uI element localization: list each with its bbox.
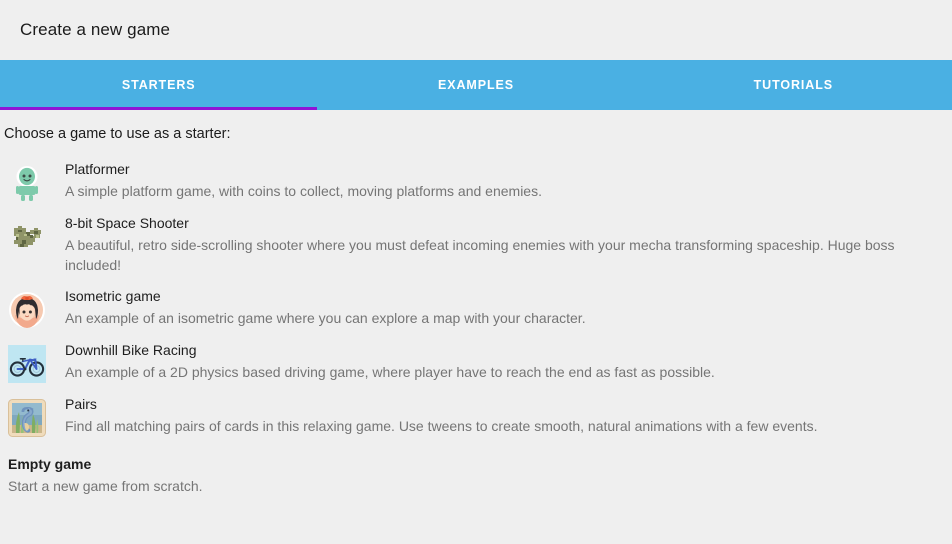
dialog-header: Create a new game [0,0,952,60]
list-item-description: A beautiful, retro side-scrolling shoote… [65,235,944,275]
seahorse-card-icon [8,399,46,437]
starters-panel: Choose a game to use as a starter: [0,110,952,496]
list-item-description: Find all matching pairs of cards in this… [65,416,944,436]
list-item-title: 8-bit Space Shooter [65,214,944,233]
bicycle-icon [8,345,46,383]
list-item-title: Downhill Bike Racing [65,341,944,360]
list-item-text: Downhill Bike Racing An example of a 2D … [65,341,944,382]
list-item[interactable]: Downhill Bike Racing An example of a 2D … [0,341,952,395]
tab-examples[interactable]: EXAMPLES [317,60,634,110]
tab-tutorials[interactable]: TUTORIALS [635,60,952,110]
starter-list: Platformer A simple platform game, with … [0,160,952,449]
list-item[interactable]: Pairs Find all matching pairs of cards i… [0,395,952,449]
platformer-alien-icon [8,164,46,202]
list-item-description: A simple platform game, with coins to co… [65,181,944,201]
list-item-description: An example of an isometric game where yo… [65,308,944,328]
list-item[interactable]: 8-bit Space Shooter A beautiful, retro s… [0,214,952,287]
list-item-text: Isometric game An example of an isometri… [65,287,944,328]
active-tab-indicator [0,107,317,110]
list-item[interactable]: Isometric game An example of an isometri… [0,287,952,341]
list-item-text: 8-bit Space Shooter A beautiful, retro s… [65,214,944,275]
list-item-text: Platformer A simple platform game, with … [65,160,944,201]
list-item-title: Platformer [65,160,944,179]
list-item-title: Pairs [65,395,944,414]
empty-game-item[interactable]: Empty game Start a new game from scratch… [0,449,952,496]
choose-game-label: Choose a game to use as a starter: [0,110,952,144]
empty-game-title: Empty game [8,455,944,474]
isometric-avatar-icon [8,291,46,329]
space-shooter-ship-icon [8,218,46,256]
list-item[interactable]: Platformer A simple platform game, with … [0,160,952,214]
tab-starters[interactable]: STARTERS [0,60,317,110]
list-item-description: An example of a 2D physics based driving… [65,362,944,382]
page-title: Create a new game [20,20,170,40]
tab-bar: STARTERS EXAMPLES TUTORIALS [0,60,952,110]
empty-game-description: Start a new game from scratch. [8,476,944,496]
list-item-title: Isometric game [65,287,944,306]
list-item-text: Pairs Find all matching pairs of cards i… [65,395,944,436]
